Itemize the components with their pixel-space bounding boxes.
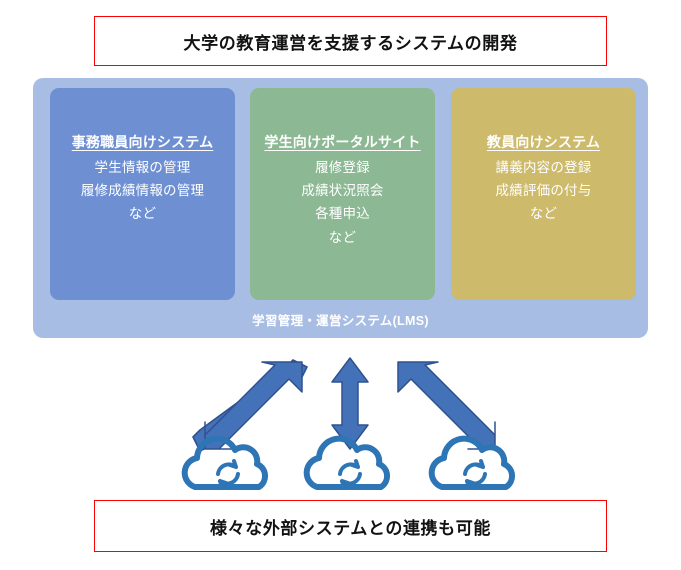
arrow-left-diagonal-shape [205, 362, 302, 449]
arrow-center-vertical-icon [332, 358, 368, 449]
lms-label: 学習管理・運営システム(LMS) [0, 310, 681, 329]
panel-faculty-line-3: など [451, 202, 636, 225]
panel-student-line-1: 履修登録 [250, 156, 435, 179]
panel-staff-system: 事務職員向けシステム 学生情報の管理 履修成績情報の管理 など [50, 88, 235, 300]
title-text: 大学の教育運営を支援するシステムの開発 [184, 29, 518, 54]
panel-faculty-line-2: 成績評価の付与 [451, 179, 636, 202]
arrow-left-diagonal-icon [193, 360, 307, 451]
panel-student-line-2: 成績状況照会 [250, 179, 435, 202]
panel-student-line-3: 各種申込 [250, 202, 435, 225]
panel-student-title: 学生向けポータルサイト [250, 132, 435, 153]
title-callout: 大学の教育運営を支援するシステムの開発 [94, 16, 607, 66]
panel-faculty-system: 教員向けシステム 講義内容の登録 成績評価の付与 など [451, 88, 636, 300]
panel-student-line-4: など [250, 226, 435, 249]
cloud-sync-center-icon [307, 439, 387, 487]
panel-staff-line-1: 学生情報の管理 [50, 156, 235, 179]
panel-faculty-line-1: 講義内容の登録 [451, 156, 636, 179]
panel-staff-line-2: 履修成績情報の管理 [50, 179, 235, 202]
cloud-sync-left-icon [185, 439, 265, 487]
footer-callout: 様々な外部システムとの連携も可能 [94, 500, 607, 552]
panel-staff-title: 事務職員向けシステム [50, 132, 235, 153]
panel-student-portal: 学生向けポータルサイト 履修登録 成績状況照会 各種申込 など [250, 88, 435, 300]
arrow-right-diagonal-icon [398, 362, 495, 449]
footer-text: 様々な外部システムとの連携も可能 [210, 514, 491, 539]
panel-staff-line-3: など [50, 202, 235, 225]
cloud-sync-right-icon [432, 439, 512, 487]
panel-faculty-title: 教員向けシステム [451, 132, 636, 153]
